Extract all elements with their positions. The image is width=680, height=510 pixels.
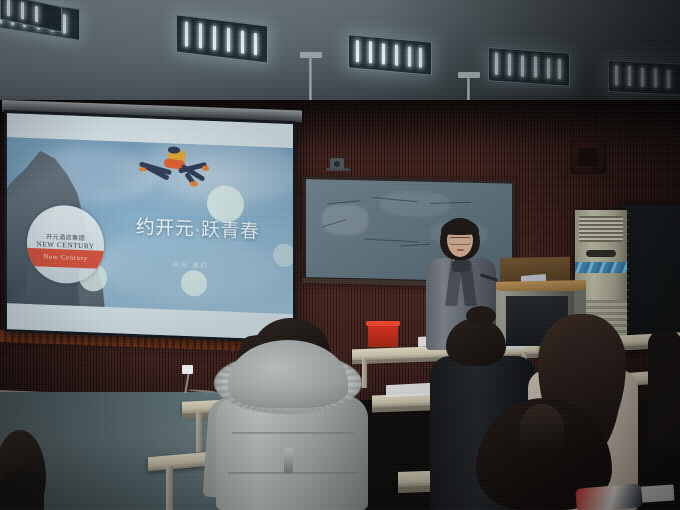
- display-panel: [620, 205, 680, 350]
- ceiling-light-panel: [176, 14, 268, 63]
- logo-band-text: New Century: [44, 254, 88, 263]
- hanging-rod: [309, 57, 312, 101]
- jacket-zipper-icon: [284, 448, 293, 474]
- red-stool-top: [366, 321, 400, 326]
- attendee-foreground-hair-part: [520, 404, 564, 450]
- presenter-mouth: [457, 249, 464, 251]
- speaker-cone-icon: [578, 148, 598, 166]
- attendee-hair-bun: [466, 306, 496, 326]
- jumping-figure: [130, 145, 216, 205]
- attendee-right-edge: [648, 330, 680, 450]
- bokeh-circle: [273, 244, 293, 268]
- classroom-presentation-photo: 开元酒店集团 NEW CENTURY HOTELS & RESORTS New …: [0, 0, 680, 510]
- bokeh-circle: [181, 270, 207, 297]
- slide-subtitle: 开元 我们: [173, 260, 209, 270]
- document-on-desk: [386, 383, 432, 397]
- glasses-icon: [449, 237, 471, 245]
- jacket-seam: [232, 432, 354, 434]
- ac-vent: [586, 250, 616, 257]
- desk-leg: [166, 466, 173, 510]
- desk-leg: [196, 412, 202, 452]
- camera-lens-icon: [334, 161, 340, 167]
- ac-decorative-band: [575, 262, 627, 273]
- red-stool: [368, 323, 398, 347]
- jacket-seam: [228, 472, 358, 474]
- presentation-slide: 开元酒店集团 NEW CENTURY HOTELS & RESORTS New …: [7, 113, 293, 340]
- attendee-far-left: [0, 470, 44, 510]
- presenter-scarf: [452, 258, 470, 272]
- slide-title: 约开元·跃青春: [136, 218, 260, 242]
- ac-grille: [579, 216, 623, 242]
- desk-leg: [362, 358, 367, 388]
- attendee-foreground-collar: [575, 483, 643, 510]
- logo-red-band: New Century: [27, 247, 104, 269]
- presenter-hair-front: [441, 219, 479, 235]
- projection-screen: 开元酒店集团 NEW CENTURY HOTELS & RESORTS New …: [4, 110, 296, 343]
- slide-background-image: 开元酒店集团 NEW CENTURY HOTELS & RESORTS New …: [7, 137, 293, 314]
